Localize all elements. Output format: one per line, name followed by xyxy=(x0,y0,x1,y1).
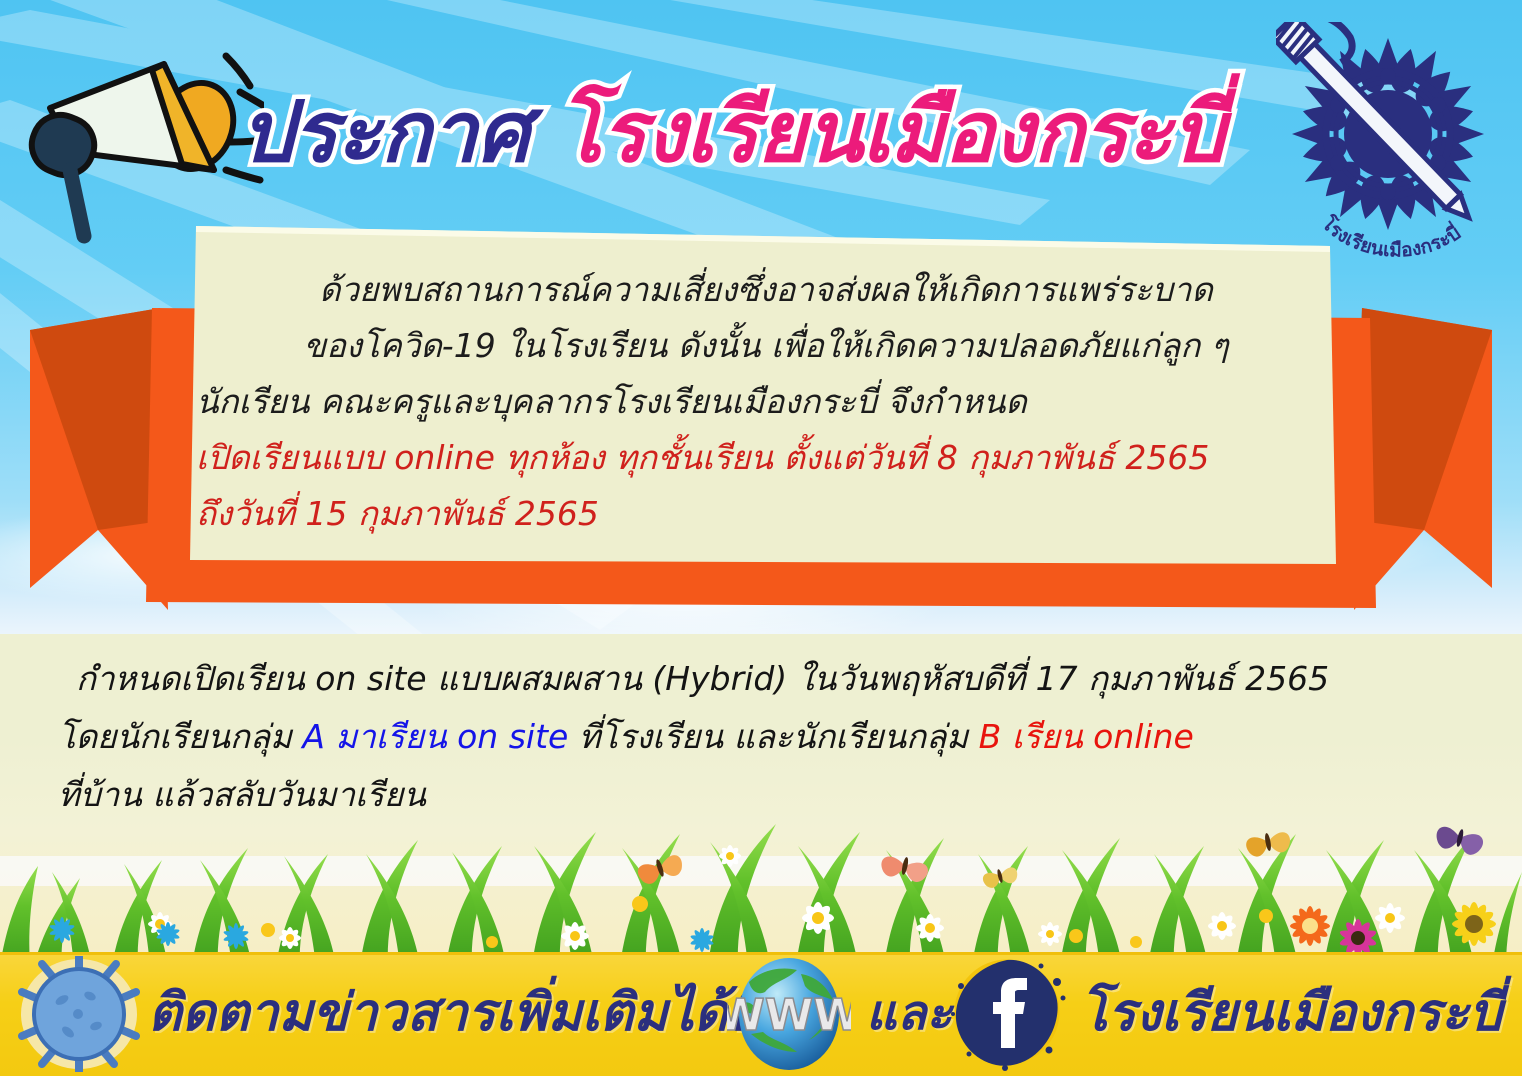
hybrid-line-1: กำหนดเปิดเรียน on site แบบผสมผสาน (Hybri… xyxy=(58,650,1488,708)
poster-canvas: ประกาศ โรงเรียนเมืองกระบี่ xyxy=(0,0,1522,1076)
coronavirus-icon xyxy=(18,956,140,1072)
grass-flower-border-decoration xyxy=(0,806,1522,966)
hybrid-line2-part1: โดยนักเรียนกลุ่ม xyxy=(58,717,302,756)
hybrid-section-text: กำหนดเปิดเรียน on site แบบผสมผสาน (Hybri… xyxy=(58,650,1488,824)
hybrid-group-b: B เรียน online xyxy=(979,717,1194,756)
globe-www-icon: WWW xyxy=(727,952,851,1074)
headline-announce-word: ประกาศ xyxy=(240,83,529,181)
facebook-f-icon[interactable] xyxy=(945,952,1069,1074)
announcement-line-3: นักเรียน คณะครูและบุคลากรโรงเรียนเมืองกร… xyxy=(196,374,1336,430)
footer-and-text: และ xyxy=(866,968,952,1058)
hybrid-group-a: A มาเรียน on site xyxy=(302,717,568,756)
announcement-highlight-1: เปิดเรียนแบบ online ทุกห้อง ทุกชั้นเรียน… xyxy=(196,430,1336,486)
announcement-line-1: ด้วยพบสถานการณ์ความเสี่ยงซึ่งอาจส่งผลให้… xyxy=(196,262,1336,318)
announcement-highlight-2: ถึงวันที่ 15 กุมภาพันธ์ 2565 xyxy=(196,486,1336,542)
headline-school-name: โรงเรียนเมืองกระบี่ xyxy=(557,83,1224,181)
announcement-line-2: ของโควิด-19 ในโรงเรียน ดังนั้น เพื่อให้เ… xyxy=(196,318,1336,374)
globe-www-label: WWW xyxy=(727,990,851,1041)
footer-follow-text: ติดตามข่าวสารเพิ่มเติมได้ที่ xyxy=(148,968,762,1058)
footer-facebook-page-name: โรงเรียนเมืองกระบี่ xyxy=(1080,968,1502,1058)
hybrid-line-2: โดยนักเรียนกลุ่ม A มาเรียน on site ที่โร… xyxy=(58,708,1488,766)
headline: ประกาศ โรงเรียนเมืองกระบี่ xyxy=(240,78,1280,188)
hybrid-line2-part2: ที่โรงเรียน และนักเรียนกลุ่ม xyxy=(568,717,978,756)
announcement-panel-text: ด้วยพบสถานการณ์ความเสี่ยงซึ่งอาจส่งผลให้… xyxy=(196,262,1336,542)
